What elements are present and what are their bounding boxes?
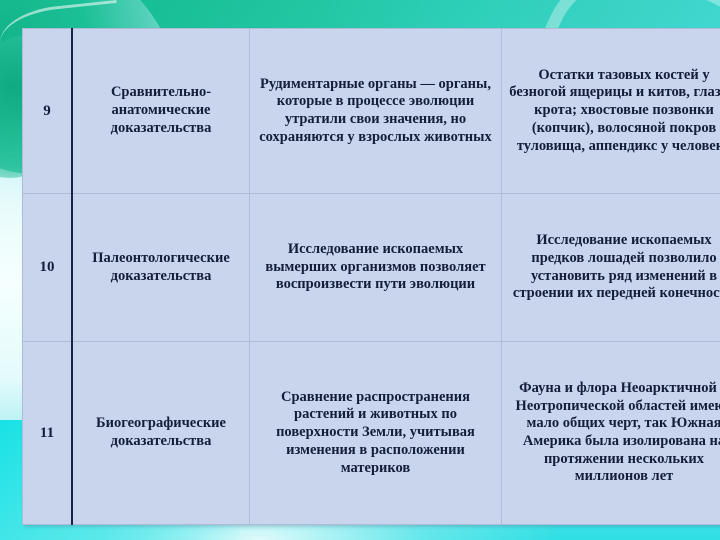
table-row: 11 Биогеографические доказательства Срав… — [23, 342, 720, 525]
row-number-cell: 11 — [23, 342, 73, 525]
evidence-example-cell: Исследование ископаемых предков лошадей … — [502, 194, 720, 342]
row-number-cell: 10 — [23, 194, 73, 342]
evidence-name-cell: Сравнительно-анатомические доказательств… — [72, 29, 250, 194]
row-number-cell: 9 — [23, 29, 73, 194]
evidence-example-cell: Фауна и флора Неоарктичной и Неотропичес… — [502, 342, 720, 525]
evidence-name-cell: Палеонтологические доказательства — [72, 194, 250, 342]
evidence-definition-cell: Рудиментарные органы — органы, которые в… — [250, 29, 502, 194]
table-row: 9 Сравнительно-анатомические доказательс… — [23, 29, 720, 194]
evidence-example-cell: Остатки тазовых костей у безногой ящериц… — [502, 29, 720, 194]
evidence-definition-cell: Сравнение распространения растений и жив… — [250, 342, 502, 525]
slide-canvas: 9 Сравнительно-анатомические доказательс… — [0, 0, 720, 540]
table-row: 10 Палеонтологические доказательства Исс… — [23, 194, 720, 342]
evidence-name-cell: Биогеографические доказательства — [72, 342, 250, 525]
evidence-definition-cell: Исследование ископаемых вымерших организ… — [250, 194, 502, 342]
evidence-table: 9 Сравнительно-анатомические доказательс… — [22, 28, 720, 525]
